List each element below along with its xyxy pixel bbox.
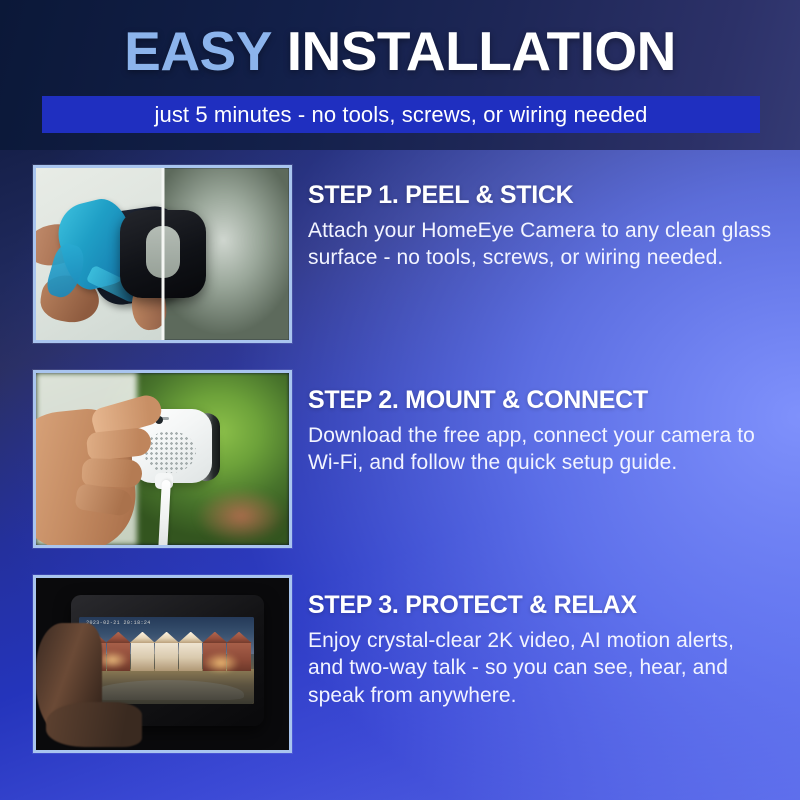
step-2-image-frame [33,370,292,548]
step-1-text: STEP 1. PEEL & STICK Attach your HomeEye… [308,182,774,272]
feed-timestamp: 2023-02-21 20:18:24 [86,620,151,626]
step-row-3: 2023-02-21 20:18:24 STEP 3. PROTECT & RE… [0,570,800,775]
feed-lamp-glow-right [195,648,247,677]
step-3-text: STEP 3. PROTECT & RELAX Enjoy crystal-cl… [308,592,774,710]
step-3-body: Enjoy crystal-clear 2K video, AI motion … [308,627,774,711]
photo-background-bokeh [183,480,289,545]
step-3-image-frame: 2023-02-21 20:18:24 [33,575,292,753]
page-title: EASY INSTALLATION [0,0,800,79]
phone-screen: 2023-02-21 20:18:24 [79,617,254,703]
peel-and-stick-photo [36,168,289,340]
poster-header: EASY INSTALLATION just 5 minutes - no to… [0,0,800,79]
step-3-heading: STEP 3. PROTECT & RELAX [308,592,774,620]
phone-night-feed-photo: 2023-02-21 20:18:24 [36,578,289,750]
finger-shape [81,458,142,488]
title-main-word: INSTALLATION [287,20,676,82]
finger-shape [46,702,142,747]
title-accent-word: EASY [124,20,272,82]
hand-holding-camera-photo [36,373,289,545]
step-1-image-frame [33,165,292,343]
step-row-1: STEP 1. PEEL & STICK Attach your HomeEye… [0,160,800,365]
camera-speaker-grille [144,431,196,473]
infographic-poster: EASY INSTALLATION just 5 minutes - no to… [0,0,800,800]
subtitle-text: just 5 minutes - no tools, screws, or wi… [155,104,648,126]
step-1-body: Attach your HomeEye Camera to any clean … [308,217,774,273]
steps-list: STEP 1. PEEL & STICK Attach your HomeEye… [0,160,800,775]
photo-split-divider [161,168,164,340]
house-shape [155,642,178,671]
step-2-body: Download the free app, connect your came… [308,422,774,478]
step-2-text: STEP 2. MOUNT & CONNECT Download the fre… [308,387,774,477]
step-2-heading: STEP 2. MOUNT & CONNECT [308,387,774,415]
subtitle-band: just 5 minutes - no tools, screws, or wi… [42,96,760,133]
step-row-2: STEP 2. MOUNT & CONNECT Download the fre… [0,365,800,570]
step-1-heading: STEP 1. PEEL & STICK [308,182,774,210]
